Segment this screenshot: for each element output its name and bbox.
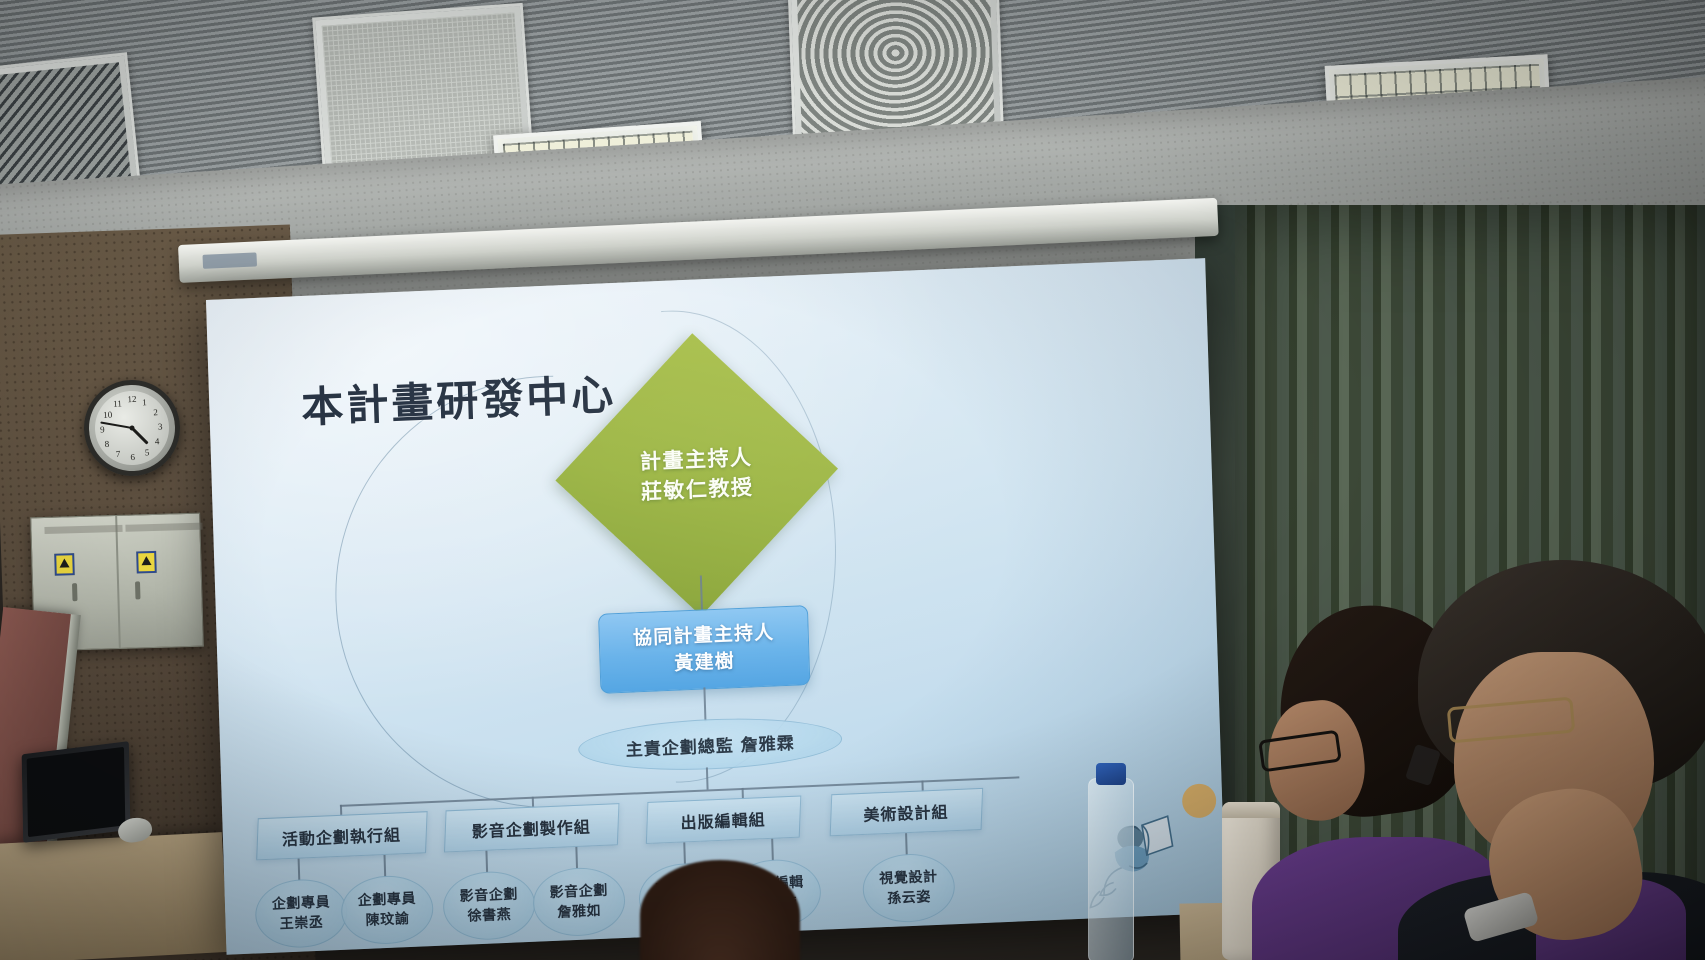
co-leader-name: 黃建樹: [674, 648, 735, 677]
member-oval: 影音企劃 詹雅如: [532, 866, 626, 938]
clock-numeral: 8: [104, 439, 109, 449]
group-box-av: 影音企劃製作組: [444, 803, 619, 852]
member-oval: 影音企劃 徐書燕: [442, 870, 536, 942]
member-oval: 企劃專員 陳玟諭: [340, 874, 434, 946]
member-name: 徐書燕: [467, 905, 511, 927]
slide-title: 本計畫研發中心: [300, 361, 617, 435]
clock-numeral: 3: [158, 421, 163, 431]
group-label: 影音企劃製作組: [472, 813, 592, 842]
water-bottle: [1088, 778, 1134, 960]
clock-numeral: 11: [113, 398, 122, 408]
director-label: 主責企劃總監 詹雅霖: [625, 728, 795, 760]
group-box-design: 美術設計組: [830, 788, 983, 836]
clock-numeral: 10: [103, 410, 113, 420]
clock-numeral: 2: [153, 407, 158, 417]
audience-head-silhouette: [640, 860, 800, 960]
group-box-activity: 活動企劃執行組: [256, 811, 427, 860]
group-label: 美術設計組: [864, 798, 950, 826]
org-node-co-leader: 協同計畫主持人 黃建樹: [598, 605, 810, 694]
member-name: 孫云姿: [887, 887, 931, 909]
laptop: [22, 741, 131, 843]
project-leader-role: 計畫主持人: [640, 442, 753, 477]
member-name: 王崇丞: [279, 913, 323, 935]
clock-numeral: 5: [145, 447, 150, 457]
clock-numeral: 6: [130, 452, 135, 462]
conference-room-photo: 121234567891011 本計畫研發中心 計畫主持人 莊敏仁教授: [0, 0, 1705, 960]
member-name: 陳玟諭: [365, 909, 409, 931]
clock-numeral: 4: [155, 436, 160, 446]
group-label: 活動企劃執行組: [282, 821, 402, 850]
clock-numeral: 9: [100, 424, 105, 434]
clock-numeral: 1: [142, 397, 147, 407]
member-role: 企劃專員: [357, 888, 416, 911]
member-name: 詹雅如: [557, 901, 601, 923]
group-label: 出版編輯組: [681, 806, 767, 834]
group-box-publishing: 出版編輯組: [646, 796, 801, 845]
clock-numeral: 12: [127, 394, 137, 404]
member-oval: 視覺設計 孫云姿: [862, 852, 956, 924]
co-leader-role: 協同計畫主持人: [633, 620, 775, 653]
member-role: 企劃專員: [271, 892, 330, 915]
slide-content: 本計畫研發中心 計畫主持人 莊敏仁教授 協同計畫主持人 黃建樹 主責企劃總監 詹…: [206, 258, 1226, 955]
member-role: 影音企劃: [549, 880, 608, 903]
projection-screen: 本計畫研發中心 計畫主持人 莊敏仁教授 協同計畫主持人 黃建樹 主責企劃總監 詹…: [206, 258, 1226, 955]
clock-numeral: 7: [116, 449, 121, 459]
member-role: 視覺設計: [879, 867, 938, 890]
project-leader-name: 莊敏仁教授: [640, 472, 753, 507]
audience-person-man: [1408, 560, 1705, 960]
member-oval: 企劃專員 王崇丞: [254, 878, 348, 950]
member-role: 影音企劃: [459, 884, 518, 907]
side-desk: [0, 832, 228, 960]
org-node-director: 主責企劃總監 詹雅霖: [578, 714, 843, 775]
